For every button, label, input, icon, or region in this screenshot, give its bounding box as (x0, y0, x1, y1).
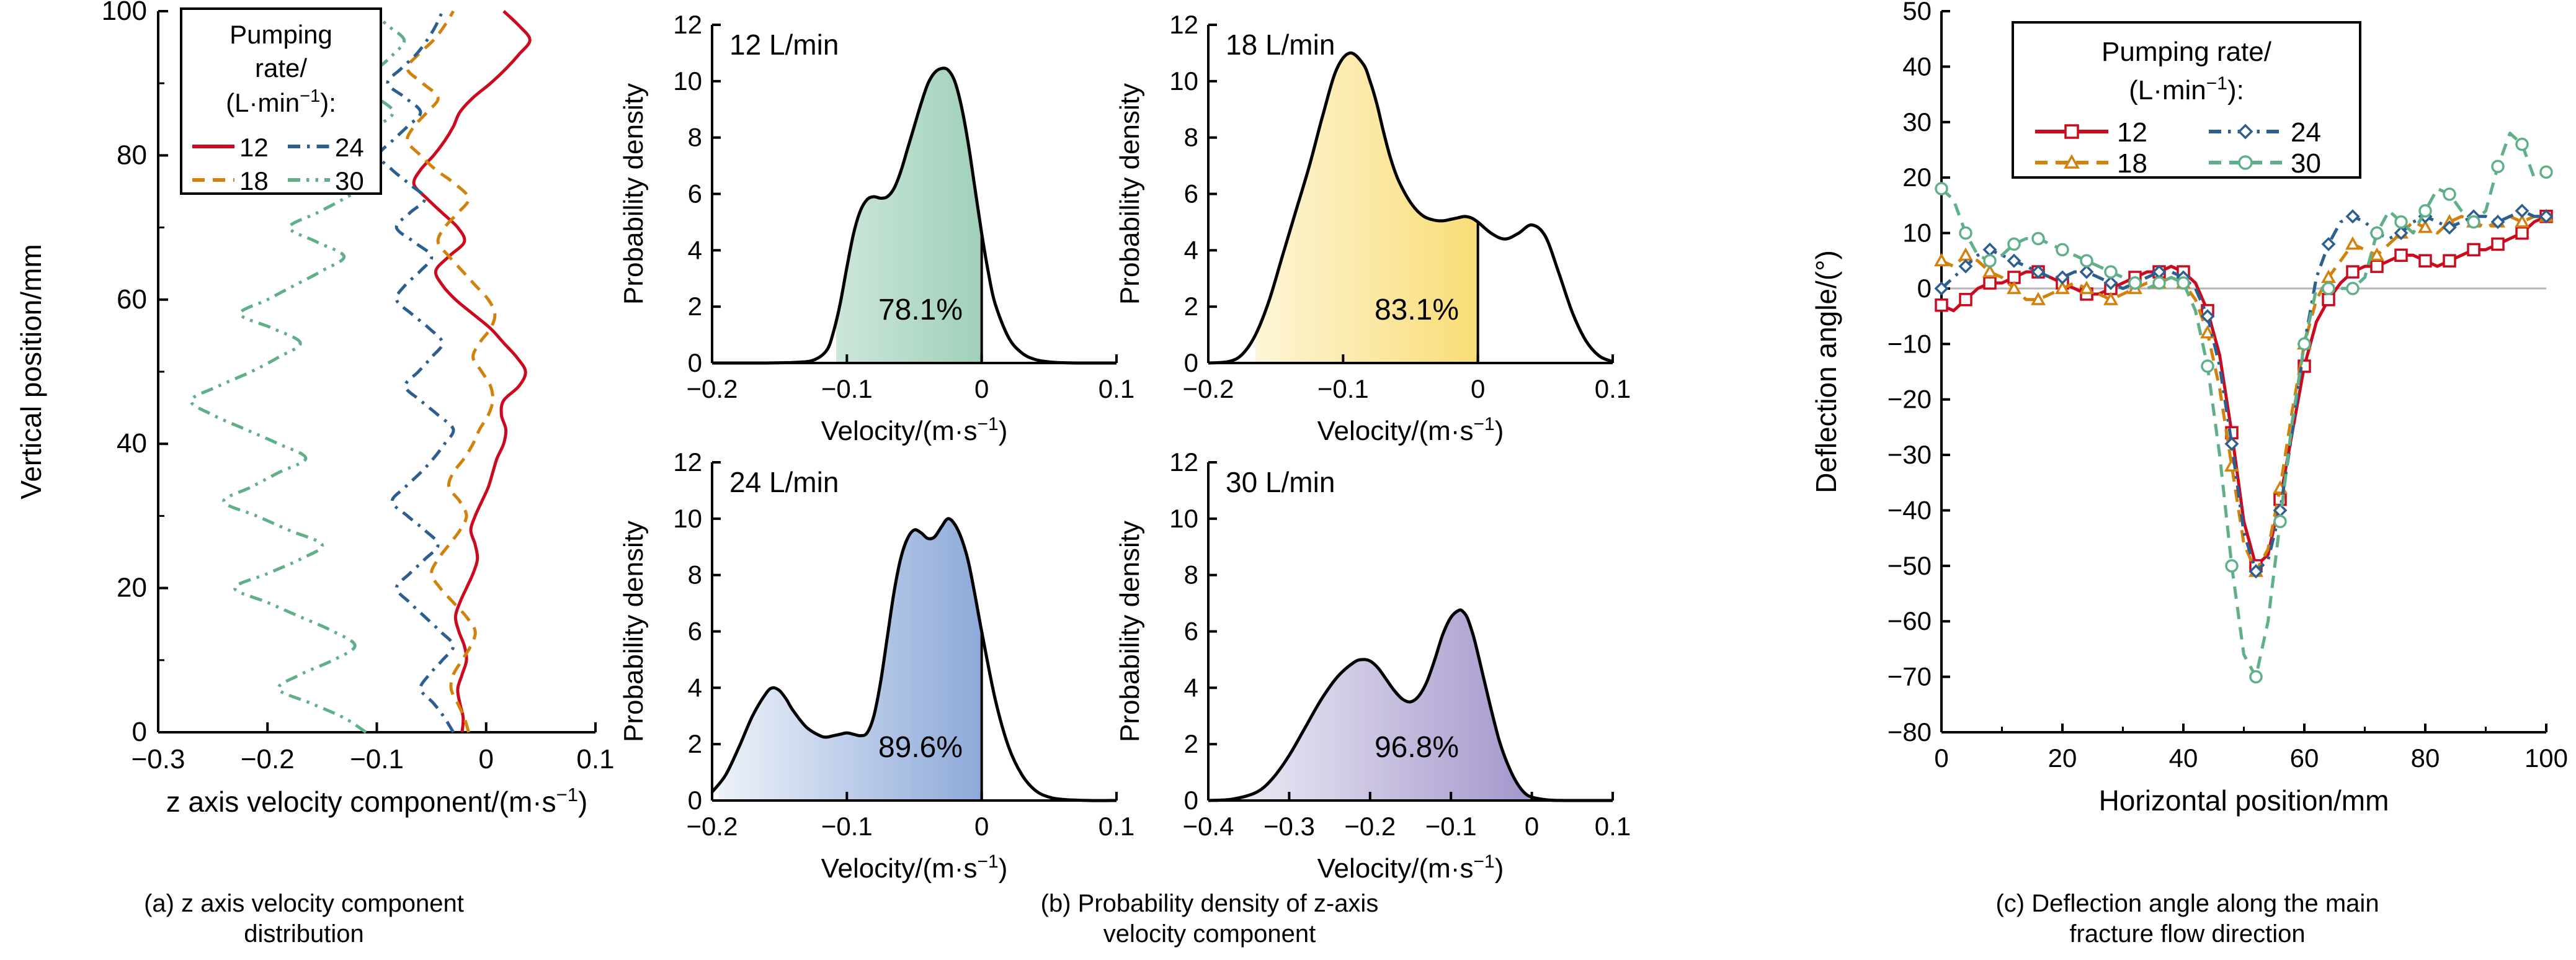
series-marker-diamond (2347, 211, 2358, 222)
y-tick-label: 8 (688, 123, 702, 152)
y-axis-title: Vertical position/mm (15, 244, 47, 500)
legend-a-label-24: 24 (335, 133, 364, 162)
series-line-12 (414, 11, 530, 732)
y-tick-label: −60 (1887, 606, 1932, 635)
x-tick-label: 0 (1525, 812, 1539, 841)
series-marker-triangle (2081, 283, 2092, 293)
x-axis-title: Velocity/(m·s−1) (1317, 414, 1504, 447)
series-marker-square (2444, 255, 2455, 266)
y-tick-label: 50 (1902, 0, 1932, 25)
y-tick-label: 10 (673, 504, 702, 533)
x-tick-label: 0 (479, 744, 494, 774)
series-line-30 (1941, 133, 2546, 677)
y-tick-label: 0 (688, 348, 702, 377)
series-marker-circle (2250, 671, 2262, 683)
y-tick-label: 0 (1184, 786, 1198, 815)
panel-a-plot: 020406080100−0.3−0.2−0.100.1Vertical pos… (0, 0, 620, 887)
y-tick-label: 10 (673, 66, 702, 96)
x-tick-label: −0.1 (350, 744, 404, 774)
x-tick-label: −0.2 (687, 812, 738, 841)
y-tick-label: 10 (1169, 66, 1198, 96)
y-axis-title: Probability density (618, 521, 649, 742)
y-axis-title: Probability density (1115, 521, 1145, 742)
y-axis-title: Probability density (1115, 83, 1145, 305)
series-marker-square (2396, 249, 2407, 261)
series-marker-square (2371, 261, 2382, 272)
x-axis-title: z axis velocity component/(m·s−1) (166, 784, 588, 819)
legend-a[interactable]: Pumpingrate/(L·min−1):12241830 (181, 9, 381, 195)
subplot-b3: 024681012−0.2−0.100.124 L/min89.6% (673, 447, 1134, 841)
series-marker-square (1960, 294, 1971, 305)
legend-a-label-18: 18 (239, 166, 269, 195)
legend-c-label-12: 12 (2117, 117, 2147, 148)
y-tick-label: 8 (1184, 560, 1198, 590)
caption-b: (b) Probability density of z-axis veloci… (633, 889, 1786, 949)
y-tick-label: 20 (117, 573, 147, 603)
series-marker-circle (2516, 139, 2528, 150)
percentage-label: 96.8% (1375, 731, 1459, 764)
y-tick-label: 0 (1184, 348, 1198, 377)
series-marker-circle (2492, 161, 2503, 172)
series-marker-circle (2105, 266, 2116, 277)
y-tick-label: 2 (688, 292, 702, 321)
series-marker-triangle (1936, 255, 1947, 265)
y-tick-label: 20 (1902, 163, 1932, 192)
series-marker-circle (2178, 277, 2189, 289)
y-tick-label: 4 (1184, 235, 1198, 264)
series-marker-square (2420, 255, 2431, 266)
series-marker-diamond (2516, 205, 2528, 217)
series-marker-circle (2239, 156, 2252, 169)
x-tick-label: −0.1 (1425, 812, 1477, 841)
series-marker-triangle (1984, 266, 1995, 276)
panel-b-plots: 024681012−0.2−0.100.112 L/min78.1%Probab… (620, 0, 1799, 887)
y-tick-label: 6 (688, 179, 702, 209)
x-axis-title: Velocity/(m·s−1) (821, 414, 1008, 447)
x-tick-label: 100 (2525, 743, 2568, 773)
legend-c-title-1: Pumping rate/ (2101, 37, 2272, 67)
x-tick-label: −0.3 (131, 744, 185, 774)
x-tick-label: −0.1 (821, 374, 873, 403)
x-tick-label: −0.2 (1344, 812, 1396, 841)
y-tick-label: 40 (117, 428, 147, 459)
y-tick-label: 4 (688, 673, 702, 702)
series-marker-circle (2541, 166, 2552, 177)
panel-c-plot: −80−70−60−50−40−30−20−100102030405002040… (1799, 0, 2576, 887)
legend-a-title-1: Pumping (230, 20, 332, 49)
figure-root: 020406080100−0.3−0.2−0.100.1Vertical pos… (0, 0, 2576, 960)
series-marker-circle (2081, 255, 2092, 266)
x-tick-label: 0 (974, 374, 989, 403)
subplot-b1: 024681012−0.2−0.100.112 L/min78.1% (673, 10, 1134, 403)
series-marker-circle (2226, 560, 2237, 572)
percentage-label: 89.6% (878, 731, 963, 764)
series-marker-square (1984, 277, 1995, 289)
y-tick-label: 10 (1169, 504, 1198, 533)
panel-a: 020406080100−0.3−0.2−0.100.1Vertical pos… (0, 0, 620, 887)
series-marker-circle (2396, 217, 2407, 228)
y-tick-label: 12 (1169, 10, 1198, 39)
y-axis-title: Probability density (618, 83, 649, 305)
series-marker-circle (2202, 361, 2213, 372)
x-tick-label: 0.1 (576, 744, 614, 774)
series-marker-diamond (2323, 238, 2334, 249)
x-axis-title: Horizontal position/mm (2099, 784, 2389, 817)
series-marker-triangle (2105, 294, 2116, 304)
series-marker-diamond (2008, 255, 2020, 266)
legend-c-label-30: 30 (2291, 148, 2321, 179)
y-tick-label: 4 (1184, 673, 1198, 702)
legend-c[interactable]: Pumping rate/(L·min−1):12241830 (2013, 22, 2360, 179)
series-marker-circle (2033, 233, 2044, 244)
series-marker-square (2066, 125, 2078, 138)
subplot-tag: 18 L/min (1226, 29, 1335, 61)
series-marker-circle (2057, 244, 2068, 255)
subplot-tag: 24 L/min (729, 466, 839, 498)
x-tick-label: −0.2 (687, 374, 738, 403)
y-tick-label: −80 (1887, 717, 1932, 747)
y-tick-label: 30 (1902, 107, 1932, 137)
series-marker-circle (2468, 217, 2479, 228)
y-tick-label: −20 (1887, 385, 1932, 414)
y-tick-label: 2 (1184, 292, 1198, 321)
series-marker-circle (2371, 228, 2382, 239)
series-marker-circle (2323, 283, 2334, 294)
subplot-tag: 30 L/min (1226, 466, 1335, 498)
subplot-b4: 024681012−0.4−0.3−0.2−0.100.130 L/min96.… (1169, 447, 1631, 841)
series-marker-square (1936, 300, 1947, 311)
x-tick-label: −0.3 (1263, 812, 1315, 841)
y-tick-label: 0 (1917, 274, 1932, 303)
legend-c-label-18: 18 (2117, 148, 2147, 179)
y-tick-label: −70 (1887, 662, 1932, 691)
series-marker-circle (2444, 189, 2455, 200)
y-tick-label: 0 (132, 717, 147, 747)
series-marker-circle (2154, 277, 2165, 289)
series-marker-circle (2299, 338, 2310, 349)
series-marker-triangle (2347, 238, 2358, 248)
subplot-tag: 12 L/min (729, 29, 839, 61)
y-tick-label: 12 (1169, 447, 1198, 477)
panel-c: −80−70−60−50−40−30−20−100102030405002040… (1799, 0, 2576, 887)
y-tick-label: 12 (673, 447, 702, 477)
series-marker-circle (2275, 516, 2286, 527)
legend-a-title-2: rate/ (255, 53, 307, 83)
series-marker-diamond (2081, 266, 2092, 277)
y-tick-label: 2 (688, 729, 702, 758)
x-tick-label: 20 (2048, 743, 2077, 773)
x-tick-label: −0.2 (1183, 374, 1234, 403)
series-marker-triangle (2033, 294, 2044, 304)
y-tick-label: 8 (1184, 123, 1198, 152)
legend-c-title-2: (L·min−1): (2129, 73, 2244, 106)
x-tick-label: 0.1 (1595, 812, 1631, 841)
x-tick-label: 0 (1934, 743, 1948, 773)
panel-b: 024681012−0.2−0.100.112 L/min78.1%Probab… (620, 0, 1799, 887)
series-marker-circle (2420, 205, 2431, 217)
series-marker-square (2516, 228, 2528, 239)
y-tick-label: 40 (1902, 52, 1932, 81)
y-tick-label: 12 (673, 10, 702, 39)
caption-a: (a) z axis velocity component distributi… (12, 889, 595, 949)
y-tick-label: −10 (1887, 329, 1932, 358)
y-tick-label: 6 (1184, 179, 1198, 209)
series-marker-triangle (2371, 249, 2382, 259)
x-tick-label: 0.1 (1595, 374, 1631, 403)
x-tick-label: 0.1 (1099, 374, 1134, 403)
x-tick-label: 0 (1471, 374, 1485, 403)
y-axis-title: Deflection angle/(°) (1810, 250, 1842, 493)
series-marker-circle (2129, 277, 2141, 289)
y-tick-label: 6 (688, 617, 702, 646)
series-marker-circle (2347, 283, 2358, 294)
series-marker-square (2468, 244, 2479, 255)
series-marker-square (2347, 266, 2358, 277)
y-tick-label: 8 (688, 560, 702, 590)
series-marker-circle (1960, 228, 1971, 239)
series-marker-circle (1984, 255, 1995, 266)
series-marker-triangle (1960, 249, 1971, 259)
series-marker-circle (2008, 238, 2020, 249)
legend-a-label-12: 12 (239, 133, 269, 162)
x-tick-label: −0.2 (241, 744, 295, 774)
y-tick-label: −40 (1887, 495, 1932, 524)
series-marker-square (2323, 294, 2334, 305)
x-tick-label: 0 (974, 812, 989, 841)
x-tick-label: −0.1 (821, 812, 873, 841)
x-tick-label: −0.1 (1317, 374, 1369, 403)
x-axis-title: Velocity/(m·s−1) (821, 851, 1008, 884)
y-tick-label: 4 (688, 235, 702, 264)
density-fill (1208, 610, 1613, 801)
x-tick-label: −0.4 (1183, 812, 1234, 841)
series-marker-diamond (1984, 244, 1995, 255)
series-marker-square (2492, 238, 2503, 249)
y-tick-label: 10 (1902, 218, 1932, 248)
percentage-label: 83.1% (1375, 294, 1459, 326)
x-tick-label: 80 (2411, 743, 2440, 773)
y-tick-label: −50 (1887, 551, 1932, 580)
series-marker-circle (1936, 183, 1947, 194)
subplot-b2: 024681012−0.2−0.100.118 L/min83.1% (1169, 10, 1631, 403)
y-tick-label: 0 (688, 786, 702, 815)
x-tick-label: 60 (2290, 743, 2319, 773)
series-group-c (1936, 133, 2552, 683)
series-line-24 (379, 11, 453, 732)
y-tick-label: 6 (1184, 617, 1198, 646)
y-tick-label: 2 (1184, 729, 1198, 758)
percentage-label: 78.1% (878, 294, 963, 326)
caption-c: (c) Deflection angle along the main frac… (1805, 889, 2570, 949)
x-tick-label: 40 (2169, 743, 2198, 773)
legend-c-label-24: 24 (2291, 117, 2321, 148)
y-tick-label: 100 (102, 0, 147, 26)
x-tick-label: 0.1 (1099, 812, 1134, 841)
x-axis-title: Velocity/(m·s−1) (1317, 851, 1504, 884)
y-tick-label: 60 (117, 284, 147, 315)
y-tick-label: 80 (117, 140, 147, 170)
y-tick-label: −30 (1887, 440, 1932, 469)
legend-a-label-30: 30 (335, 166, 364, 195)
